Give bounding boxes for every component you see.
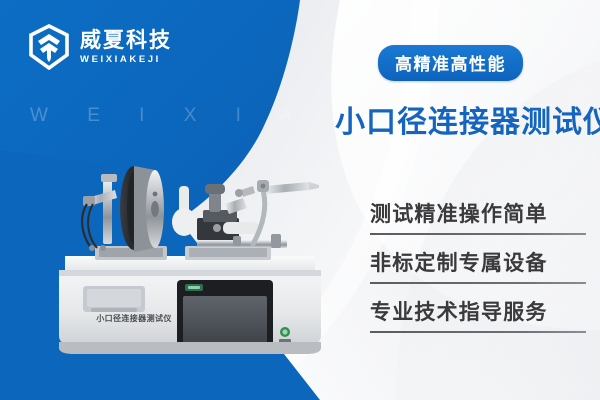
hero-badge: 高精准高性能 [378,45,523,81]
brand-name-cn: 威夏科技 [80,30,172,51]
hero-feature-list: 测试精准操作简单 非标定制专属设备 专业技术指导服务 [370,198,586,345]
hexagon-shield-logo-icon [27,24,71,70]
feature-label: 测试精准操作简单 [370,198,586,228]
feature-item: 专业技术指导服务 [370,296,586,333]
banner-canvas: 小口径连接器测试仪 威夏科技 WEIXIAKEJI W E I X I A K … [0,0,600,400]
feature-item: 非标定制专属设备 [370,247,586,284]
hero-title: 小口径连接器测试仪 [335,97,600,141]
feature-label: 非标定制专属设备 [370,247,586,277]
brand-logo-text: 威夏科技 WEIXIAKEJI [80,30,172,65]
brand-name-en: WEIXIAKEJI [80,55,172,65]
feature-divider [370,331,586,333]
feature-label: 专业技术指导服务 [370,296,586,326]
product-photo-small-bore-connector-tester [57,160,322,360]
feature-divider [370,282,586,284]
feature-divider [370,233,586,235]
brand-logo[interactable]: 威夏科技 WEIXIAKEJI [27,24,172,70]
machine-front-caption: 小口径连接器测试仪 [74,313,194,324]
feature-item: 测试精准操作简单 [370,198,586,235]
